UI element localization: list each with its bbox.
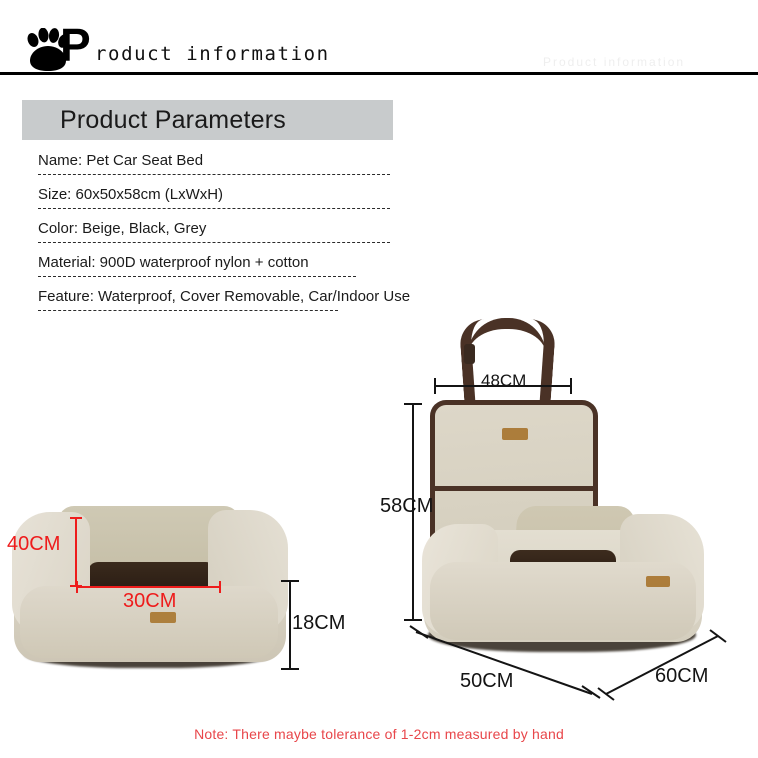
spec-divider [38,242,390,243]
spec-row-name: Name: Pet Car Seat Bed [38,150,394,184]
spec-row-color: Color: Beige, Black, Grey [38,218,394,252]
spec-divider [38,208,390,209]
spec-divider [38,174,390,175]
dimtick-30cm-right [219,581,221,593]
dimension-label-18cm: 18CM [292,612,345,635]
dimline-18cm-vertical [289,580,291,670]
product-parameters-title: Product Parameters [60,106,286,135]
header-logo-letter: P [60,22,91,68]
dimension-label-50cm: 50CM [460,670,513,693]
handle-clip [464,344,475,364]
dimension-label-60cm: 60CM [655,665,708,688]
spec-divider [38,276,356,277]
product-parameters-banner: Product Parameters [22,100,393,140]
spec-row-size: Size: 60x50x58cm (LxWxH) [38,184,394,218]
dimtick-58cm-top [404,403,422,405]
base-dimension-lines [400,620,740,700]
dimline-30cm-horizontal [76,586,221,588]
dimension-label-30cm: 30CM [123,590,176,613]
spec-text: Name: Pet Car Seat Bed [38,150,203,172]
product-information-page: P roduct information Product information… [0,0,758,758]
page-header: P roduct information Product information [0,0,758,80]
seat-brand-tag [646,576,670,587]
dimtick-48cm-right [570,378,572,394]
specifications-list: Name: Pet Car Seat Bed Size: 60x50x58cm … [38,150,394,320]
spec-text: Color: Beige, Black, Grey [38,218,206,240]
header-divider [0,72,758,75]
page-title: roduct information [95,44,330,64]
dimtick-40cm-top [70,517,82,519]
spec-row-feature: Feature: Waterproof, Cover Removable, Ca… [38,286,394,320]
spec-text: Size: 60x50x58cm (LxWxH) [38,184,223,206]
spec-text: Material: 900D waterproof nylon + cotton [38,252,309,274]
dimtick-18cm-bottom [281,668,299,670]
dimension-label-40cm: 40CM [7,533,60,556]
dimline-40cm-vertical [75,517,77,587]
dimtick-48cm-left [434,378,436,394]
dimension-label-58cm: 58CM [380,495,433,518]
tolerance-note: Note: There maybe tolerance of 1-2cm mea… [0,726,758,742]
backrest-pocket-seam [430,486,598,491]
backrest-brand-tag [502,428,528,440]
brand-tag [150,612,176,623]
dimtick-30cm-left [76,581,78,593]
watermark-ghost-text: Product information [543,55,723,69]
spec-divider [38,310,338,311]
spec-row-material: Material: 900D waterproof nylon + cotton [38,252,394,286]
dimension-label-48cm: 48CM [481,371,526,391]
dimtick-18cm-top [281,580,299,582]
spec-text: Feature: Waterproof, Cover Removable, Ca… [38,286,410,308]
